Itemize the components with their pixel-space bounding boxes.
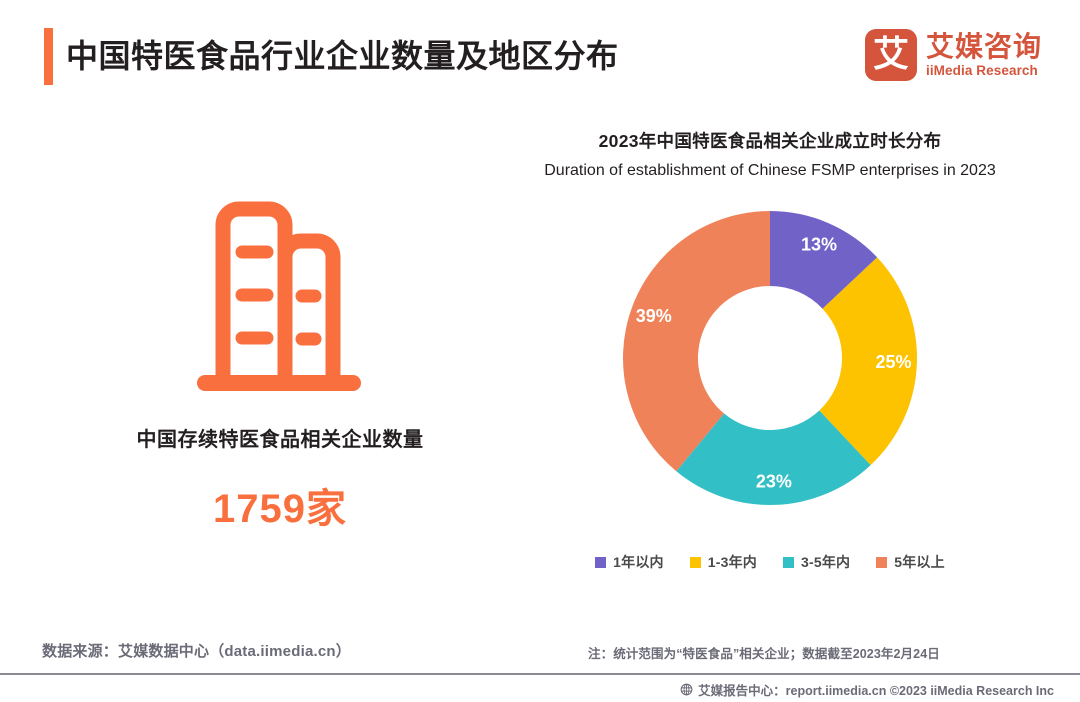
donut-slice-label: 23% <box>756 471 792 491</box>
building-icon-wrap <box>60 190 500 405</box>
legend-label: 1年以内 <box>613 552 664 572</box>
footer-note: 注：统计范围为“特医食品”相关企业；数据截至2023年2月24日 <box>588 643 940 662</box>
logo-name-en: iiMedia Research <box>926 62 1042 79</box>
legend-swatch-icon <box>876 557 887 568</box>
donut-slice-label: 25% <box>875 352 911 372</box>
logo-mark-icon: 艾 <box>865 29 917 81</box>
donut-chart-wrap: 13%25%23%39% <box>500 198 1040 528</box>
legend-item[interactable]: 1-3年内 <box>690 552 757 572</box>
donut-chart: 13%25%23%39% <box>610 198 930 518</box>
legend-item[interactable]: 5年以上 <box>876 552 945 572</box>
chart-panel: 2023年中国特医食品相关企业成立时长分布 Duration of establ… <box>500 128 1040 572</box>
legend-label: 5年以上 <box>894 552 945 572</box>
donut-slice-label: 13% <box>801 235 837 255</box>
chart-title-en: Duration of establishment of Chinese FSM… <box>500 158 1040 184</box>
building-icon <box>175 195 385 400</box>
legend-swatch-icon <box>690 557 701 568</box>
brand-logo: 艾 艾媒咨询 iiMedia Research <box>865 25 1042 85</box>
logo-mark-char: 艾 <box>873 37 909 73</box>
enterprise-count-panel: 中国存续特医食品相关企业数量 1759家 <box>60 190 500 534</box>
legend-label: 3-5年内 <box>801 552 850 572</box>
globe-icon <box>680 683 693 696</box>
legend-swatch-icon <box>595 557 606 568</box>
legend-item[interactable]: 1年以内 <box>595 552 664 572</box>
chart-legend: 1年以内1-3年内3-5年内5年以上 <box>500 552 1040 572</box>
footer-source: 数据来源：艾媒数据中心（data.iimedia.cn） <box>42 640 351 661</box>
stat-label: 中国存续特医食品相关企业数量 <box>60 423 500 452</box>
legend-label: 1-3年内 <box>708 552 757 572</box>
donut-slice-label: 39% <box>636 306 672 326</box>
footer-credit: 艾媒报告中心：report.iimedia.cn ©2023 iiMedia R… <box>680 680 1054 699</box>
stat-value: 1759家 <box>60 476 500 534</box>
footer-credit-text: 艾媒报告中心：report.iimedia.cn ©2023 iiMedia R… <box>698 680 1054 699</box>
page-header: 中国特医食品行业企业数量及地区分布 艾 艾媒咨询 iiMedia Researc… <box>0 0 1080 112</box>
page-title: 中国特医食品行业企业数量及地区分布 <box>66 28 619 85</box>
logo-name-cn: 艾媒咨询 <box>926 32 1042 62</box>
chart-title-cn: 2023年中国特医食品相关企业成立时长分布 <box>500 128 1040 154</box>
legend-swatch-icon <box>783 557 794 568</box>
title-accent-bar <box>44 28 53 85</box>
logo-text: 艾媒咨询 iiMedia Research <box>926 32 1042 79</box>
legend-item[interactable]: 3-5年内 <box>783 552 850 572</box>
